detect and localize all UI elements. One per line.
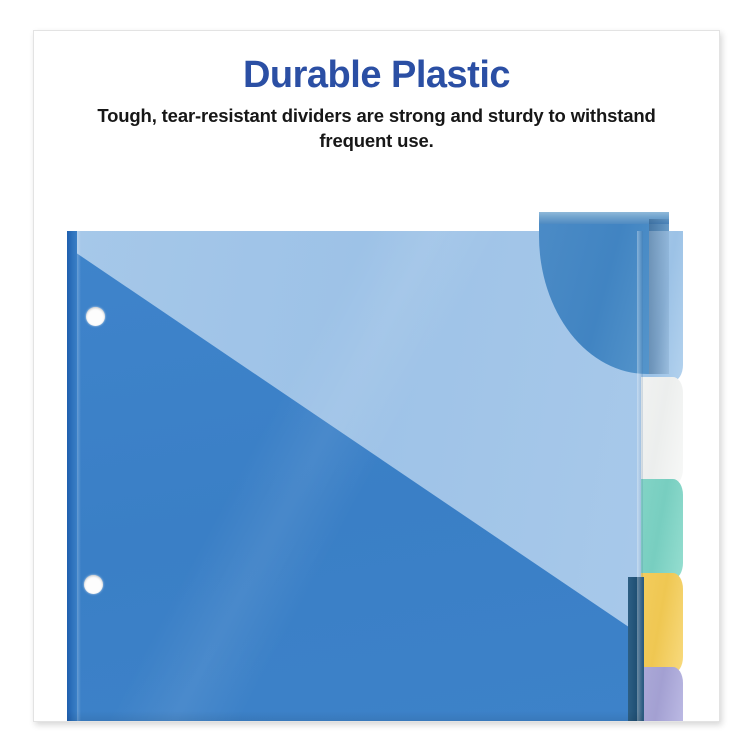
sheet-right-cut-edge [637,231,643,721]
product-photo [34,179,719,721]
marketing-copy: Durable Plastic Tough, tear-resistant di… [34,31,719,153]
product-image-stage: Durable Plastic Tough, tear-resistant di… [0,0,750,750]
page-title: Durable Plastic [34,53,719,97]
page-subtitle: Tough, tear-resistant dividers are stron… [77,103,677,153]
sheet-spine-highlight [77,231,81,721]
subtitle-line-1: Tough, tear-resistant dividers are stron… [97,105,543,126]
product-card: Durable Plastic Tough, tear-resistant di… [33,30,720,722]
top-tab-side-edge [649,219,669,374]
binder-hole-top [86,307,105,326]
sheet-bottom-shade [67,711,643,721]
sheet-binding-spine [67,231,77,721]
binder-hole-bottom [84,575,103,594]
